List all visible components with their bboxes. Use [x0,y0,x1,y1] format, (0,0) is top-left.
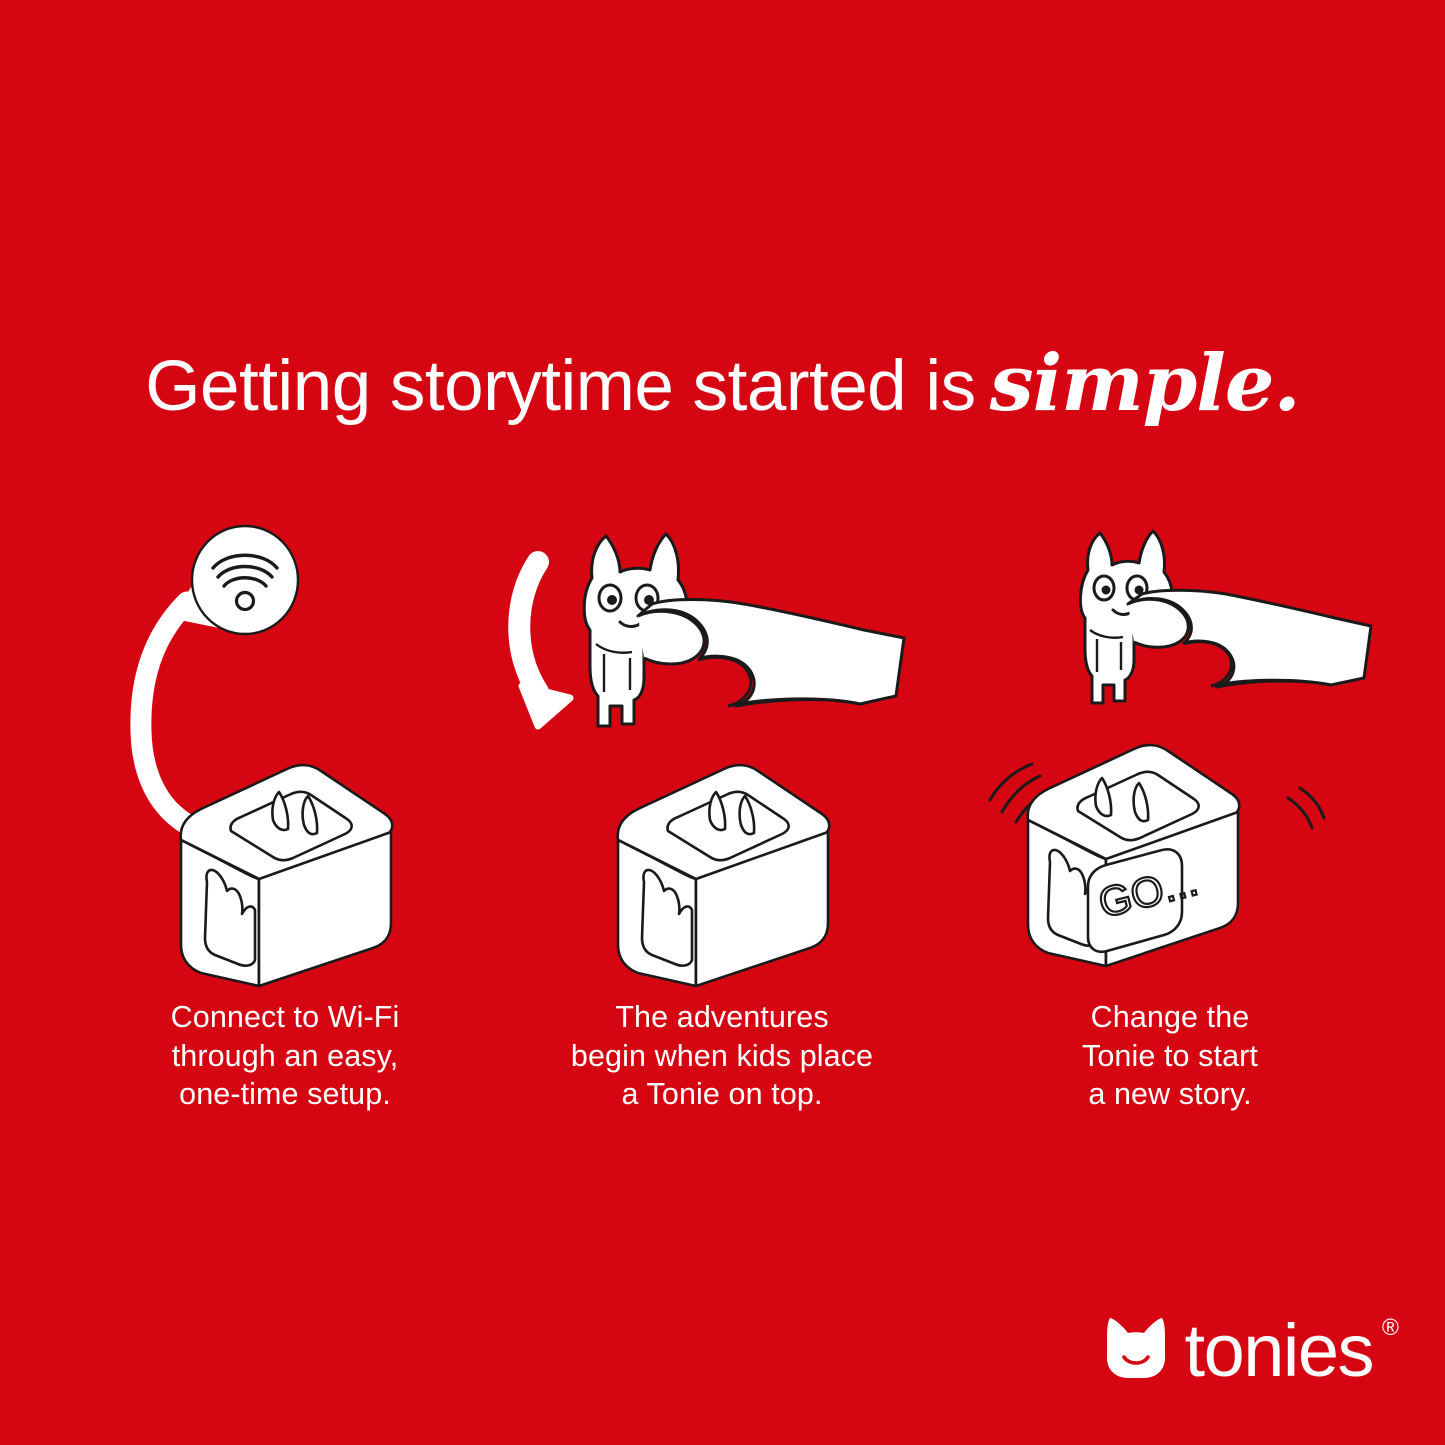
curved-down-arrow-icon [519,562,570,726]
headline-main-text: Getting storytime started is [145,347,975,426]
toniebox-icon [618,765,830,986]
caption-line: begin when kids place [492,1037,952,1076]
poster-canvas: Getting storytime started issimple. [0,0,1445,1445]
illustration-change-tonie: GO... [940,520,1400,990]
page-title: Getting storytime started issimple. [0,338,1445,429]
step-caption-place-tonie: The adventures begin when kids place a T… [492,998,952,1114]
step-caption-change-tonie: Change the Tonie to start a new story. [940,998,1400,1114]
caption-line: through an easy, [55,1037,515,1076]
hand-holding-tonie-icon [1080,531,1371,703]
headline-script-text: simple. [990,338,1300,429]
illustration-place-tonie [492,520,952,990]
step-caption-connect-wifi: Connect to Wi-Fi through an easy, one-ti… [55,998,515,1114]
illustration-connect-wifi [55,520,515,990]
step-panel-change-tonie: GO... [940,520,1400,1140]
registered-trademark-icon: ® [1382,1314,1399,1341]
caption-line: The adventures [492,998,952,1037]
tonies-cat-logo-icon [1103,1316,1169,1380]
caption-line: Change the [940,998,1400,1037]
caption-line: one-time setup. [55,1075,515,1114]
hand-holding-tonie-icon [584,534,904,726]
steps-row: Connect to Wi-Fi through an easy, one-ti… [0,520,1445,1140]
caption-line: a new story. [940,1075,1400,1114]
step-panel-connect-wifi: Connect to Wi-Fi through an easy, one-ti… [55,520,515,1140]
logo-wordmark: tonies [1185,1309,1373,1392]
caption-line: a Tonie on top. [492,1075,952,1114]
brand-logo: tonies ® [1103,1316,1373,1383]
caption-line: Connect to Wi-Fi [55,998,515,1037]
step-panel-place-tonie: The adventures begin when kids place a T… [492,520,952,1140]
wifi-icon [192,526,298,634]
toniebox-icon: GO... [1028,745,1240,966]
caption-line: Tonie to start [940,1037,1400,1076]
toniebox-icon [181,765,393,986]
